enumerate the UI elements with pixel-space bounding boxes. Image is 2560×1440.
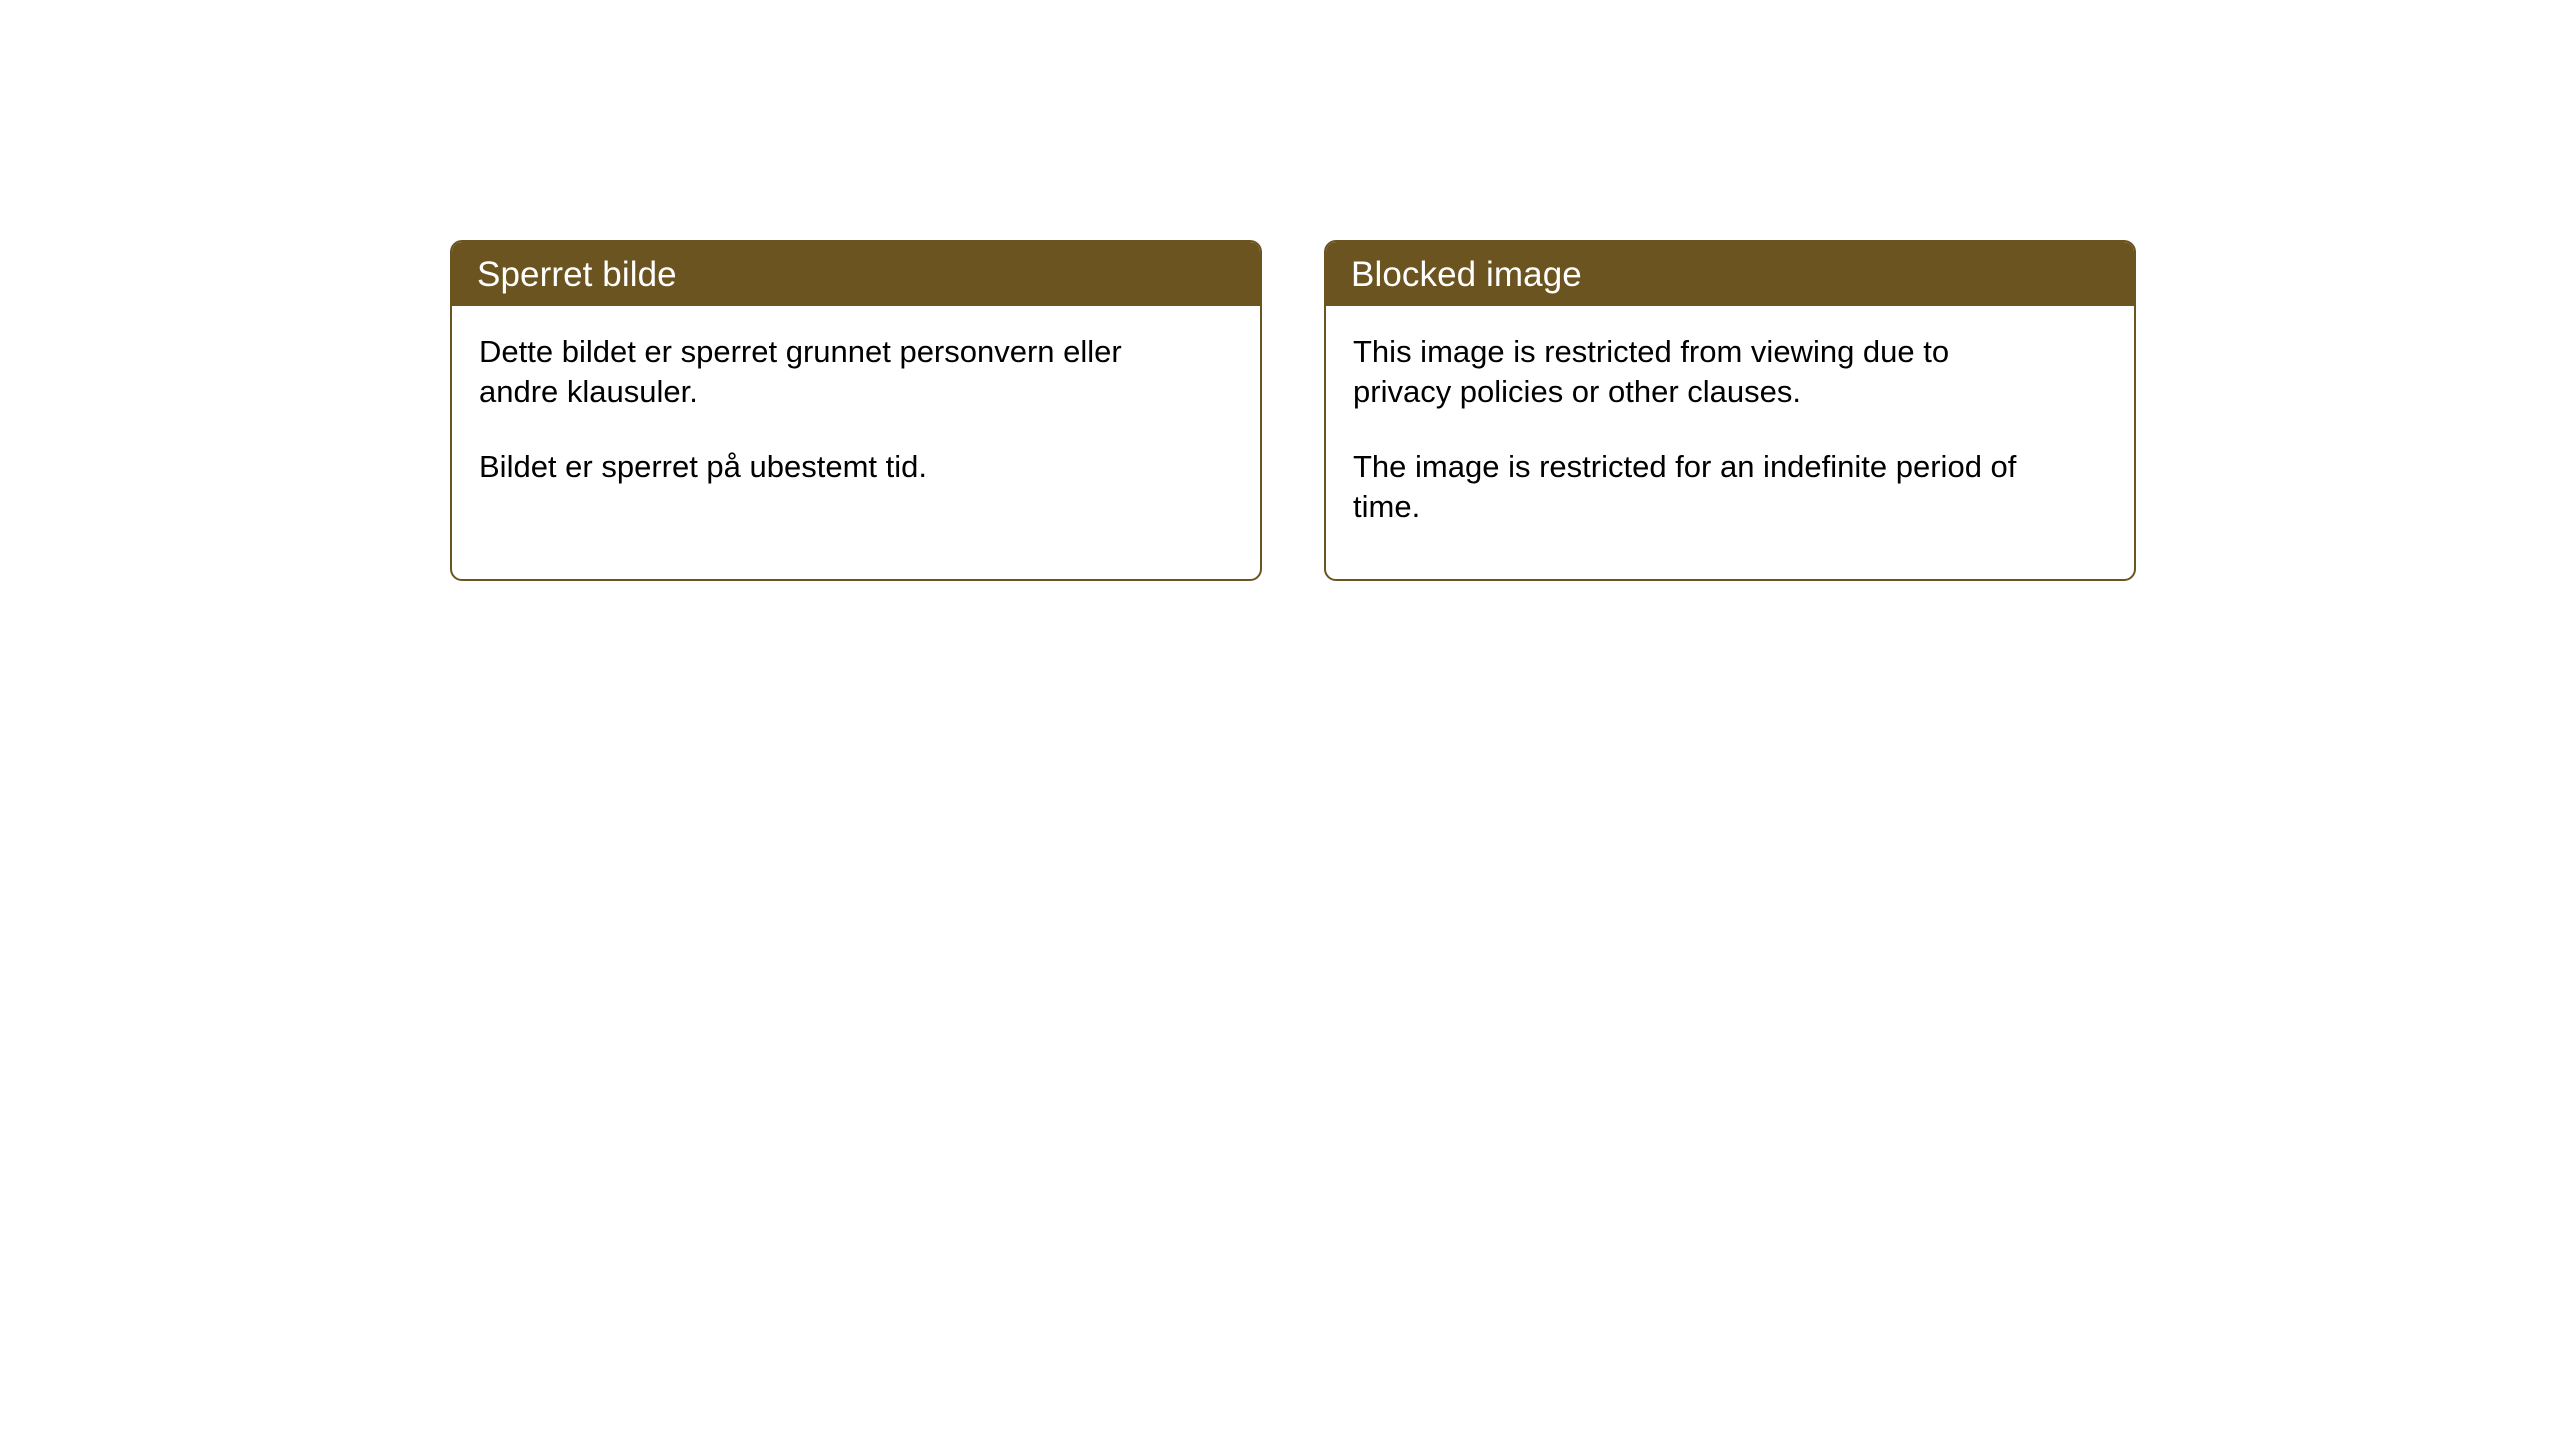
blocked-image-notice-english: Blocked image This image is restricted f…: [1324, 240, 2136, 581]
notice-paragraph-duration-norwegian: Bildet er sperret på ubestemt tid.: [479, 447, 1179, 487]
notice-header-norwegian: Sperret bilde: [452, 242, 1260, 306]
blocked-image-notice-norwegian: Sperret bilde Dette bildet er sperret gr…: [450, 240, 1262, 581]
notice-paragraph-duration-english: The image is restricted for an indefinit…: [1353, 447, 2053, 526]
notice-body-norwegian: Dette bildet er sperret grunnet personve…: [452, 306, 1260, 579]
page-root: Sperret bilde Dette bildet er sperret gr…: [0, 0, 2560, 1440]
notice-paragraph-reason-english: This image is restricted from viewing du…: [1353, 332, 2053, 411]
notice-header-english: Blocked image: [1326, 242, 2134, 306]
notice-card-group: Sperret bilde Dette bildet er sperret gr…: [450, 240, 2136, 581]
notice-title-norwegian: Sperret bilde: [477, 257, 677, 292]
notice-paragraph-reason-norwegian: Dette bildet er sperret grunnet personve…: [479, 332, 1179, 411]
notice-title-english: Blocked image: [1351, 257, 1582, 292]
notice-body-english: This image is restricted from viewing du…: [1326, 306, 2134, 579]
